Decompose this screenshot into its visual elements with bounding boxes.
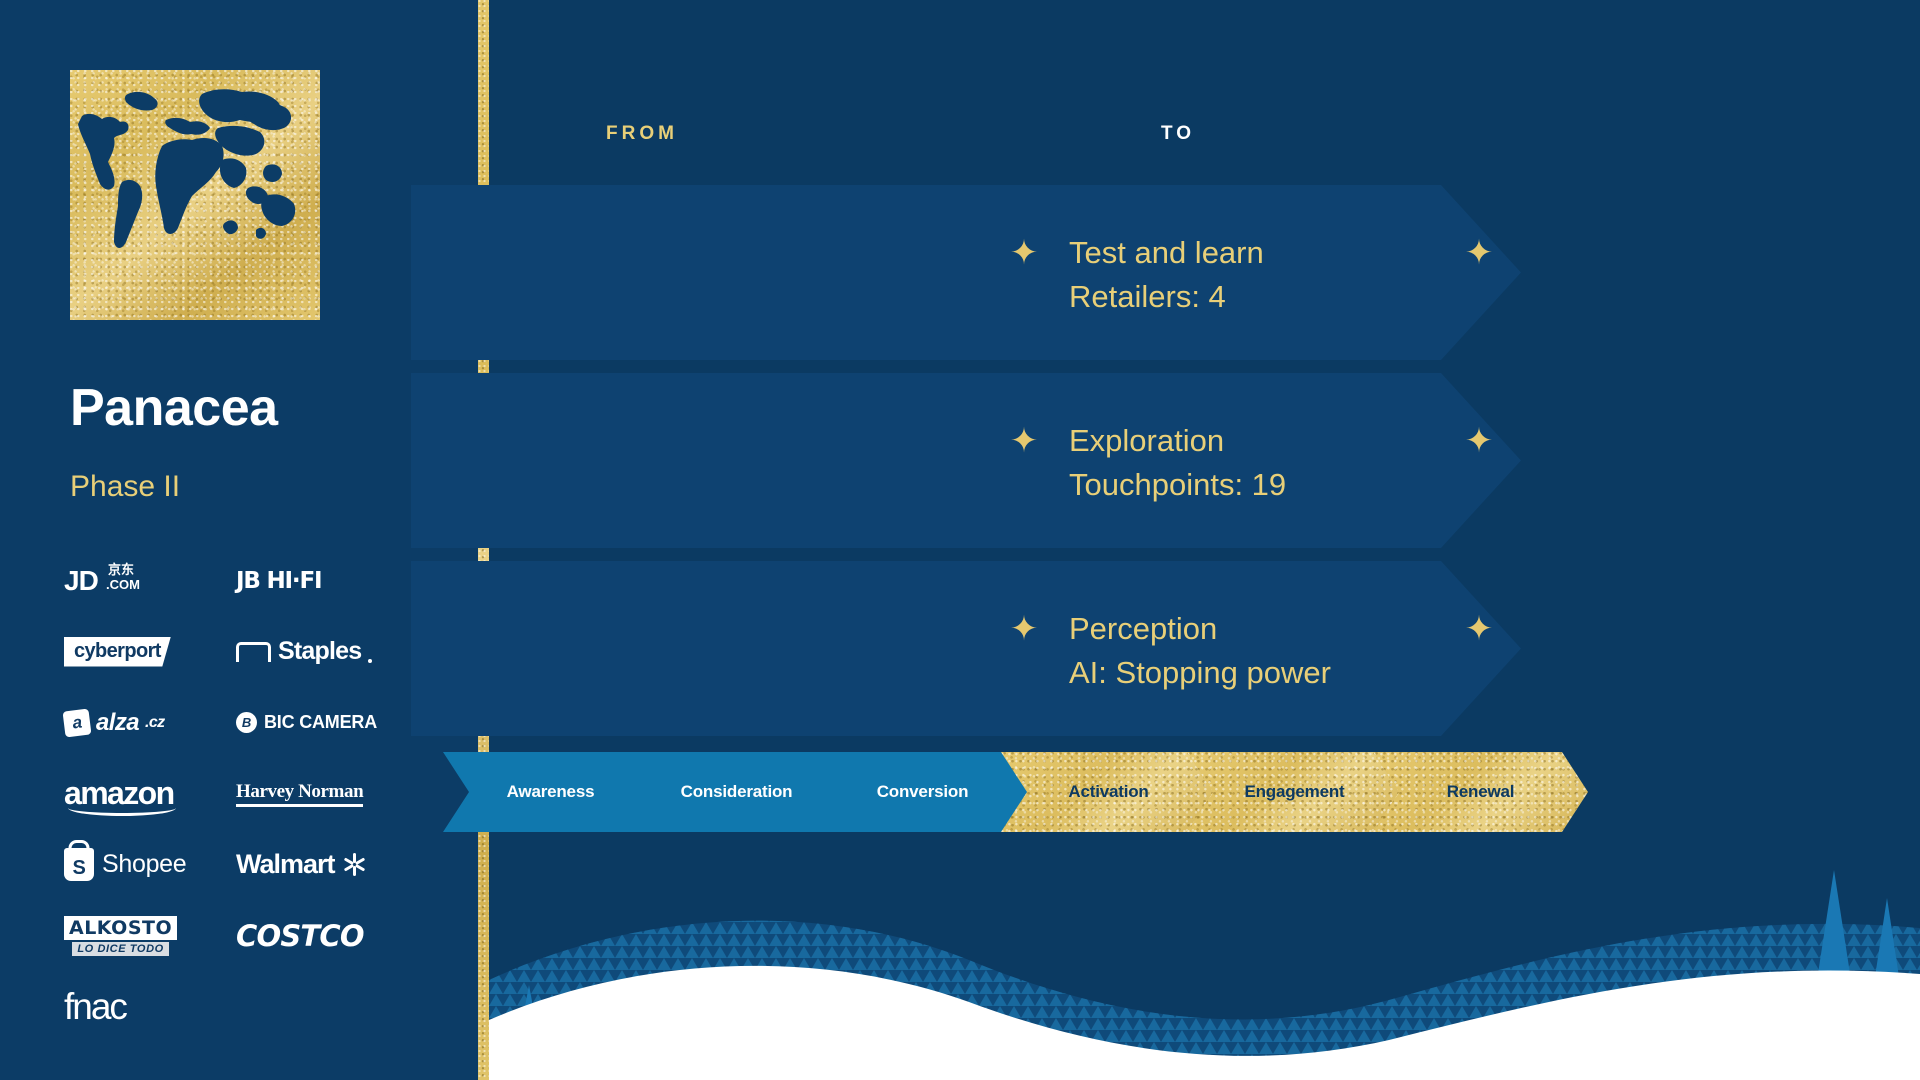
logo-jb-hi-fi: JB HI·FI — [236, 545, 414, 616]
jd-logo-com: .COM — [106, 577, 140, 592]
shopee-bag-icon: S — [64, 848, 94, 881]
row-1-to-line1: Scale to marketers — [1524, 231, 1782, 275]
logo-row: fnac — [64, 971, 414, 1042]
row-2-from-line1: Exploration — [1069, 419, 1286, 463]
harvey-norman-logo-text: Harvey Norman — [236, 781, 363, 807]
row-1-from-cell: ✦ Test and learn Retailers: 4 — [1007, 231, 1264, 319]
slide-root: Panacea Phase II JD 京东 .COM JB HI·FI — [0, 0, 1920, 1080]
funnel-stage-conversion[interactable]: Conversion — [815, 752, 1030, 832]
row-3-from-cell: ✦ Perception AI: Stopping power — [1007, 607, 1331, 695]
staples-logo-text: Staples — [278, 637, 361, 666]
row-2-to-line1: Focus: High impact — [1524, 419, 1789, 463]
logo-harvey-norman: Harvey Norman — [236, 758, 414, 829]
column-header-from: FROM — [606, 123, 678, 145]
row-3-from-line1: Perception — [1069, 607, 1331, 651]
logo-row: S Shopee Walmart — [64, 829, 414, 900]
logo-row: cyberport Staples — [64, 616, 414, 687]
logo-cyberport: cyberport — [64, 616, 236, 687]
logo-row: a alza .cz B BIC CAMERA — [64, 687, 414, 758]
logo-alza-cz: a alza .cz — [64, 687, 236, 758]
shopee-logo-text: Shopee — [102, 850, 186, 879]
staples-dot-icon — [368, 659, 372, 663]
walmart-logo-text: Walmart — [236, 849, 335, 880]
sparkle-icon: ✦ — [1007, 238, 1041, 272]
logo-row: JD 京东 .COM JB HI·FI — [64, 545, 414, 616]
logo-fnac: fnac — [64, 971, 236, 1042]
funnel-stage-consideration[interactable]: Consideration — [629, 752, 844, 832]
amazon-smile-icon — [68, 800, 176, 816]
alza-logo-tld: .cz — [145, 714, 165, 732]
alza-logo-text: alza — [96, 709, 139, 737]
comparison-row: ✦ Perception AI: Stopping power ✦ Percep… — [411, 561, 1521, 736]
world-map-icon — [70, 70, 320, 320]
jb-hi-fi-logo-text: JB HI·FI — [236, 568, 321, 594]
comparison-row: ✦ Test and learn Retailers: 4 ✦ Scale to… — [411, 185, 1521, 360]
sparkle-icon: ✦ — [1462, 614, 1496, 648]
funnel-stage-awareness[interactable]: Awareness — [443, 752, 658, 832]
page-subtitle: Phase II — [70, 472, 180, 502]
fnac-logo-text: fnac — [64, 986, 126, 1028]
sparkle-icon: ✦ — [1007, 426, 1041, 460]
main-stage: FROM TO ✦ Test and learn Retailers: 4 ✦ … — [489, 0, 1920, 1080]
row-1-to-cell: ✦ Scale to marketers Retailers: 18 — [1462, 231, 1782, 319]
alkosto-logo-tagline: LO DICE TODO — [72, 942, 168, 956]
logo-alkosto: ALKOSTO LO DICE TODO — [64, 900, 236, 971]
page-title: Panacea — [70, 382, 278, 434]
alza-mark-icon: a — [63, 708, 92, 737]
sparkle-icon: ✦ — [1007, 614, 1041, 648]
staples-clip-icon — [236, 642, 271, 662]
alkosto-logo-text: ALKOSTO — [64, 916, 177, 940]
cyberport-logo-text: cyberport — [64, 637, 171, 667]
comparison-row: ✦ Exploration Touchpoints: 19 ✦ Focus: H… — [411, 373, 1521, 548]
sparkle-icon: ✦ — [1462, 426, 1496, 460]
logo-bic-camera: B BIC CAMERA — [236, 687, 414, 758]
partner-logo-grid: JD 京东 .COM JB HI·FI cyberport — [64, 545, 414, 1042]
logo-staples: Staples — [236, 616, 414, 687]
row-2-from-cell: ✦ Exploration Touchpoints: 19 — [1007, 419, 1286, 507]
jd-logo-text: JD — [64, 565, 98, 597]
row-3-to-line2: AI: Heuristics — [1524, 651, 1891, 695]
logo-jd-com: JD 京东 .COM — [64, 545, 236, 616]
funnel-stage-engagement[interactable]: Engagement — [1187, 752, 1402, 832]
costco-logo-text: COSTCO — [236, 919, 364, 953]
logo-row: amazon Harvey Norman — [64, 758, 414, 829]
column-header-to: TO — [1161, 123, 1195, 145]
sidebar: Panacea Phase II JD 京东 .COM JB HI·FI — [0, 0, 478, 1080]
logo-amazon: amazon — [64, 758, 236, 829]
row-2-to-cell: ✦ Focus: High impact Touchpoints: 5 — [1462, 419, 1789, 507]
bic-mark-icon: B — [236, 712, 257, 733]
sparkle-icon: ✦ — [1462, 238, 1496, 272]
row-1-to-line2: Retailers: 18 — [1524, 275, 1782, 319]
row-3-to-cell: ✦ Perception and awareness AI: Heuristic… — [1462, 607, 1891, 695]
row-1-from-line2: Retailers: 4 — [1069, 275, 1264, 319]
logo-walmart: Walmart — [236, 829, 414, 900]
row-2-to-line2: Touchpoints: 5 — [1524, 463, 1789, 507]
jd-logo-cn: 京东 — [108, 559, 134, 578]
row-3-from-line2: AI: Stopping power — [1069, 651, 1331, 695]
customer-journey-funnel: Awareness Consideration Conversion Activ… — [443, 752, 1523, 832]
funnel-stage-activation[interactable]: Activation — [1001, 752, 1216, 832]
logo-shopee: S Shopee — [64, 829, 236, 900]
bic-camera-logo-text: BIC CAMERA — [264, 712, 377, 733]
logo-costco: COSTCO — [236, 900, 414, 971]
funnel-stage-renewal[interactable]: Renewal — [1373, 752, 1588, 832]
walmart-spark-icon — [341, 851, 368, 878]
wave-decoration — [489, 850, 1920, 1080]
row-3-to-line1: Perception and awareness — [1524, 607, 1891, 651]
logo-row: ALKOSTO LO DICE TODO COSTCO — [64, 900, 414, 971]
row-1-from-line1: Test and learn — [1069, 231, 1264, 275]
row-2-from-line2: Touchpoints: 19 — [1069, 463, 1286, 507]
